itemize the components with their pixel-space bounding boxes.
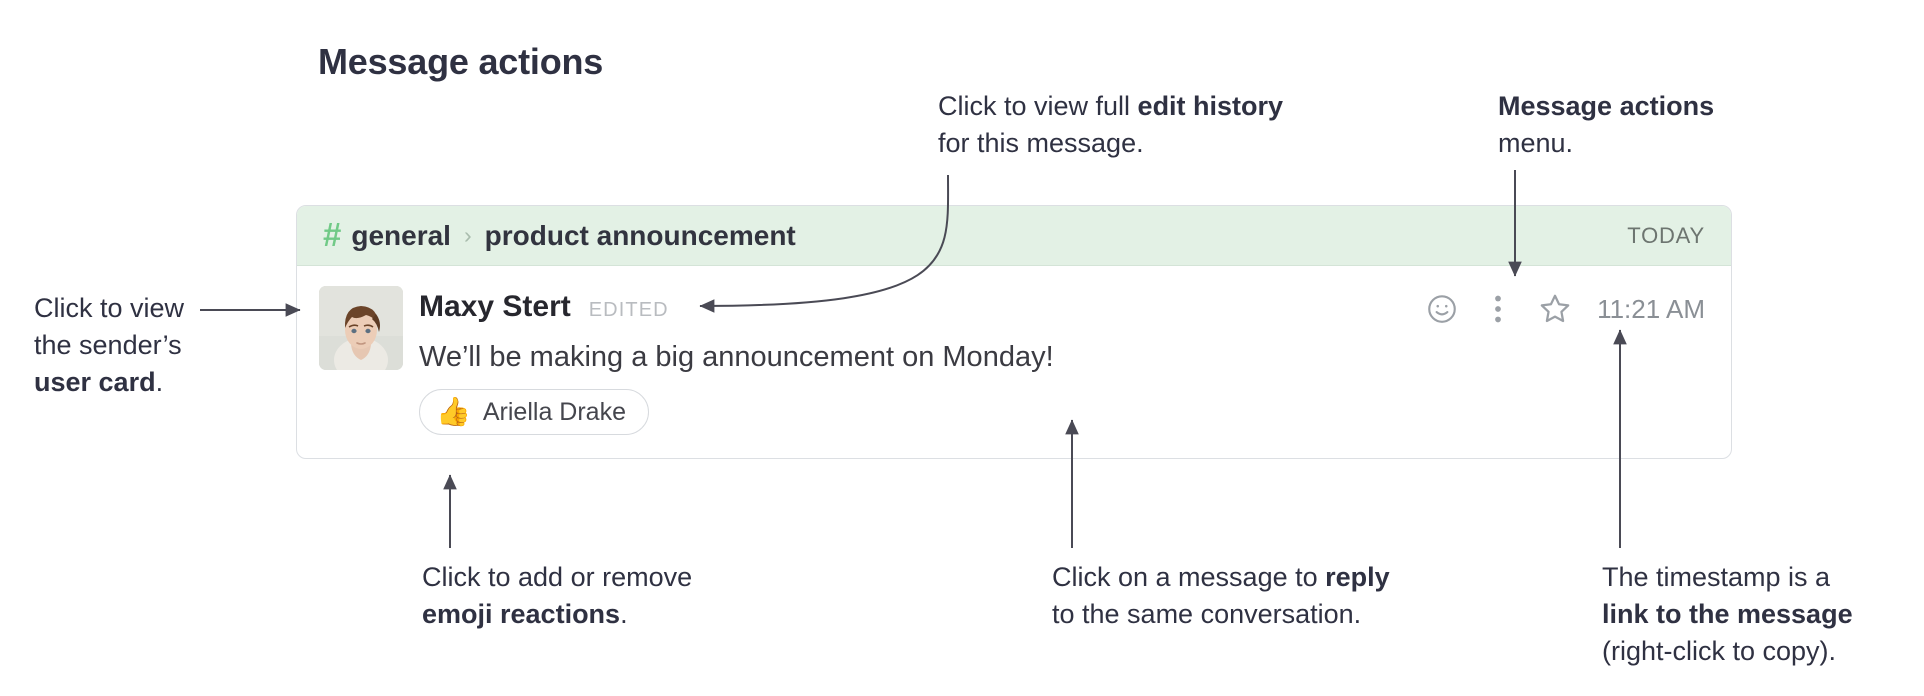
avatar[interactable] (319, 286, 403, 370)
message-timestamp-link[interactable]: 11:21 AM (1597, 294, 1705, 325)
message-actions-bar: 11:21 AM (1425, 290, 1705, 328)
annotation-text-post: menu. (1498, 128, 1573, 158)
annotation-text-post: . (156, 367, 164, 397)
reaction-pill[interactable]: 👍 Ariella Drake (419, 389, 649, 435)
annotation-text-bold: edit history (1138, 91, 1284, 121)
message-row[interactable]: Maxy Stert EDITED We’ll be making a big … (297, 266, 1731, 458)
star-icon[interactable] (1537, 291, 1573, 327)
annotation-text-post: (right-click to copy). (1602, 636, 1836, 666)
annotation-text-bold: link to the message (1602, 599, 1853, 629)
screenshot-root: Message actions # general › product anno… (0, 0, 1924, 696)
chevron-right-icon: › (464, 224, 472, 247)
annotation-text-pre: Click to add or remove (422, 562, 692, 592)
reactions-list: 👍 Ariella Drake (419, 389, 1705, 435)
annotation-text-bold: emoji reactions (422, 599, 620, 629)
channel-header: # general › product announcement TODAY (297, 206, 1731, 266)
annotation-timestamp-link: The timestamp is a link to the message (… (1602, 559, 1924, 670)
annotation-text-post: . (620, 599, 628, 629)
message-card: # general › product announcement TODAY (296, 205, 1732, 459)
annotation-text-bold: user card (34, 367, 156, 397)
annotation-emoji-reactions: Click to add or remove emoji reactions. (422, 559, 842, 633)
annotation-text-bold: reply (1325, 562, 1390, 592)
annotation-text-post: for this message. (938, 128, 1144, 158)
sender-name[interactable]: Maxy Stert (419, 290, 571, 324)
annotation-reply: Click on a message to reply to the same … (1052, 559, 1472, 633)
message-body-text[interactable]: We’ll be making a big announcement on Mo… (419, 339, 1705, 375)
edited-badge[interactable]: EDITED (589, 299, 669, 322)
hash-icon: # (323, 218, 341, 251)
annotation-text-bold: Message actions (1498, 91, 1714, 121)
annotation-user-card: Click to view the sender’s user card. (34, 290, 264, 401)
annotation-edit-history: Click to view full edit history for this… (938, 88, 1398, 162)
annotation-text-pre: Click to view full (938, 91, 1138, 121)
reaction-label: Ariella Drake (483, 398, 626, 427)
annotation-text-pre: Click to view the sender’s (34, 293, 184, 360)
annotation-text-pre: Click on a message to (1052, 562, 1325, 592)
page-title: Message actions (318, 41, 603, 83)
topic-name[interactable]: product announcement (485, 220, 796, 252)
add-reaction-icon[interactable] (1425, 292, 1459, 326)
annotation-text-post: to the same conversation. (1052, 599, 1361, 629)
annotation-text-pre: The timestamp is a (1602, 562, 1830, 592)
message-actions-menu-icon[interactable] (1485, 292, 1511, 326)
channel-name[interactable]: general (351, 220, 451, 252)
annotation-actions-menu: Message actions menu. (1498, 88, 1818, 162)
date-label: TODAY (1627, 223, 1705, 249)
thumbs-up-icon: 👍 (436, 398, 471, 426)
